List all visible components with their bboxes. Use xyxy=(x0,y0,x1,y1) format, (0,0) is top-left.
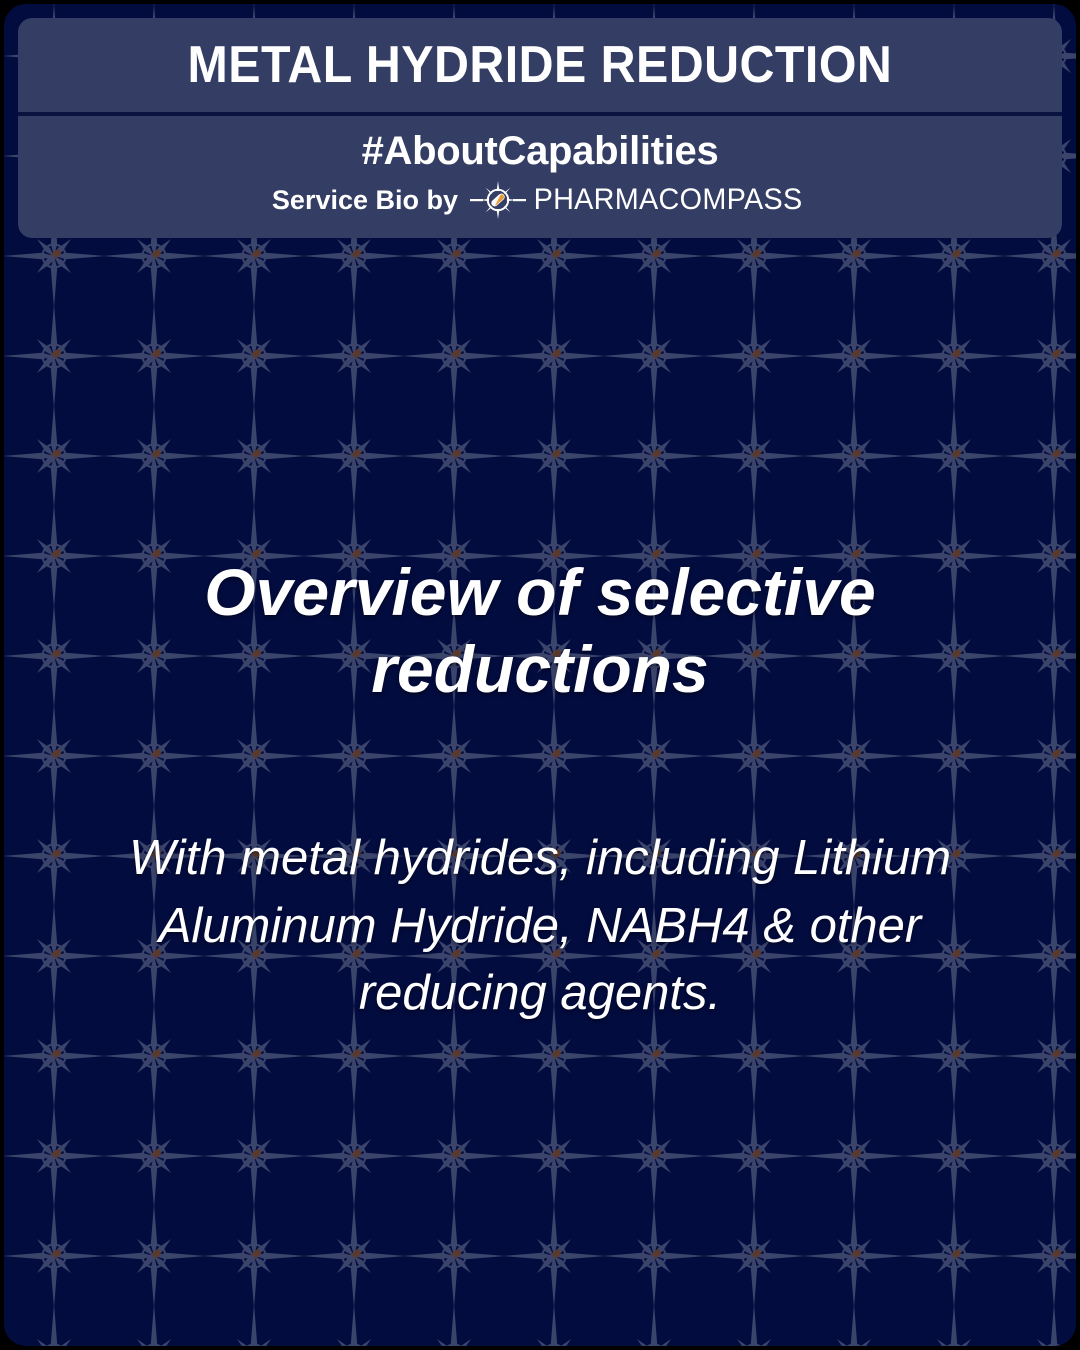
hashtag-label[interactable]: #AboutCapabilities xyxy=(362,130,719,172)
page-title: METAL HYDRIDE REDUCTION xyxy=(188,39,893,91)
main-content: Overview of selective reductions With me… xyxy=(4,254,1076,1346)
post-card: METAL HYDRIDE REDUCTION #AboutCapabiliti… xyxy=(4,4,1076,1346)
byline: Service Bio by xyxy=(272,180,808,220)
header-banner: METAL HYDRIDE REDUCTION #AboutCapabiliti… xyxy=(18,18,1062,238)
compass-pill-icon xyxy=(470,180,526,220)
brand-wordmark: PHARMACOMPASS xyxy=(534,185,803,215)
body-copy: With metal hydrides, including Lithium A… xyxy=(70,825,1010,1028)
headline: Overview of selective reductions xyxy=(125,554,955,707)
byline-prefix: Service Bio by xyxy=(272,187,458,214)
header-title-row: METAL HYDRIDE REDUCTION xyxy=(18,18,1062,112)
header-subtitle-row: #AboutCapabilities Service Bio by xyxy=(18,116,1062,238)
